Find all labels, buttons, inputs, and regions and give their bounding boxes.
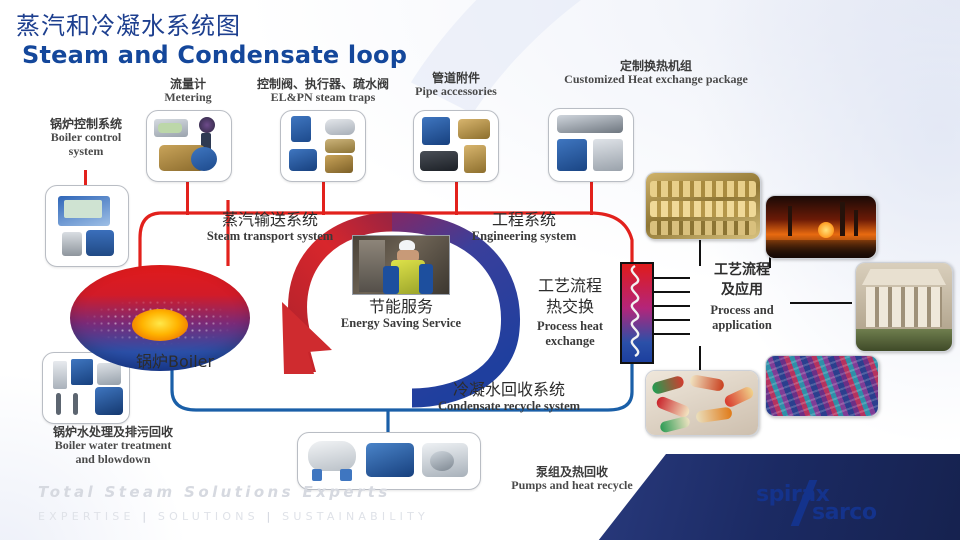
label-en-line2: and blowdown <box>18 453 208 466</box>
label-en: Energy Saving Service <box>308 316 494 331</box>
photo-box-pipe-accessories[interactable] <box>413 110 499 182</box>
label-cn-line1: 工艺流程 <box>690 262 794 279</box>
heat-exchanger <box>620 262 654 364</box>
logo-text-sarco: sarco <box>812 500 876 525</box>
label-en-line1: EL&PN steam traps <box>242 91 404 104</box>
label-en-line1: Pumps and heat recycle <box>482 479 662 492</box>
label-boiler: 锅炉Boiler <box>136 348 214 372</box>
textile-yarn-photo[interactable] <box>765 355 879 417</box>
label-cn: 锅炉水处理及排污回收 <box>18 426 208 439</box>
label-process-heat-exchange: 工艺流程 热交换 Process heat exchange <box>520 276 620 349</box>
label-cn: 工程系统 <box>440 210 608 229</box>
pillar-separator-1: | <box>142 510 150 523</box>
label-cn: 泵组及热回收 <box>482 466 662 479</box>
photo-box-boiler-control-system[interactable] <box>45 185 129 267</box>
page-title-english: Steam and Condensate loop <box>22 41 407 69</box>
label-process-and-application: 工艺流程 及应用 Process and application <box>690 262 794 333</box>
footer-tagline: Total Steam Solutions Experts <box>38 483 391 501</box>
label-steam-traps: 控制阀、执行器、疏水阀 EL&PN steam traps <box>242 78 404 105</box>
photo-box-metering[interactable] <box>146 110 232 182</box>
label-steam-transport-system: 蒸汽输送系统 Steam transport system <box>170 210 370 244</box>
footer-pillars: EXPERTISE | SOLUTIONS | SUSTAINABILITY <box>38 510 429 523</box>
label-cn-line1: 工艺流程 <box>520 276 620 295</box>
pillar-expertise: EXPERTISE <box>38 510 135 523</box>
label-en-line1: Process and <box>690 303 794 318</box>
label-pipe-accessories: 管道附件 Pipe accessories <box>394 72 518 99</box>
label-en-line1: Customized Heat exchange package <box>530 73 782 86</box>
label-cn: 冷凝水回收系统 <box>398 380 620 399</box>
food-cans-photo[interactable] <box>645 172 761 240</box>
spirax-sarco-logo: spirax sarco <box>756 482 946 526</box>
pillar-separator-2: | <box>267 510 275 523</box>
label-cn: 蒸汽输送系统 <box>170 210 370 229</box>
label-cn-line2: 及应用 <box>690 282 794 299</box>
pillar-sustainability: SUSTAINABILITY <box>282 510 429 523</box>
label-cn: 定制换热机组 <box>530 60 782 73</box>
label-metering: 流量计 Metering <box>130 78 246 105</box>
label-en-line1: Metering <box>130 91 246 104</box>
label-cn-line2: 热交换 <box>520 297 620 316</box>
photo-box-steam-traps[interactable] <box>280 110 366 182</box>
label-en-line1: Boiler water treatment <box>18 439 208 452</box>
pharma-capsules-photo[interactable] <box>645 370 759 436</box>
refinery-sunset-photo[interactable] <box>765 195 877 259</box>
label-cn: 流量计 <box>130 78 246 91</box>
photo-box-heat-exchange-package[interactable] <box>548 108 634 182</box>
boiler-flame <box>132 309 188 341</box>
label-en-line2: exchange <box>520 334 620 349</box>
photo-box-pumps-heat-recycle[interactable] <box>297 432 481 490</box>
label-en-line1: Pipe accessories <box>394 85 518 98</box>
label-cn: 控制阀、执行器、疏水阀 <box>242 78 404 91</box>
label-cn: 节能服务 <box>308 297 494 316</box>
label-en: Engineering system <box>440 229 608 244</box>
label-pumps-heat-recycle: 泵组及热回收 Pumps and heat recycle <box>482 466 662 493</box>
label-cn: 锅炉控制系统 <box>22 118 150 131</box>
label-en: Condensate recycle system <box>398 399 620 414</box>
label-engineering-system: 工程系统 Engineering system <box>440 210 608 244</box>
label-heat-exchange-package: 定制换热机组 Customized Heat exchange package <box>530 60 782 87</box>
pillar-solutions: SOLUTIONS <box>158 510 259 523</box>
institution-building-photo[interactable] <box>855 262 953 352</box>
label-en-line2: application <box>690 318 794 333</box>
label-energy-saving-service: 节能服务 Energy Saving Service <box>308 297 494 331</box>
page-title-chinese: 蒸汽和冷凝水系统图 <box>16 6 241 41</box>
label-en-line1: Boiler control <box>22 131 150 144</box>
label-condensate-recycle-system: 冷凝水回收系统 Condensate recycle system <box>398 380 620 414</box>
label-en-line2: system <box>22 145 150 158</box>
label-en-line1: Process heat <box>520 319 620 334</box>
label-en: Steam transport system <box>170 229 370 244</box>
label-boiler-water-treatment: 锅炉水处理及排污回收 Boiler water treatment and bl… <box>18 426 208 466</box>
label-cn: 管道附件 <box>394 72 518 85</box>
label-boiler-control-system: 锅炉控制系统 Boiler control system <box>22 118 150 158</box>
slide-canvas: 蒸汽和冷凝水系统图 Steam and Condensate loop <box>0 0 960 540</box>
